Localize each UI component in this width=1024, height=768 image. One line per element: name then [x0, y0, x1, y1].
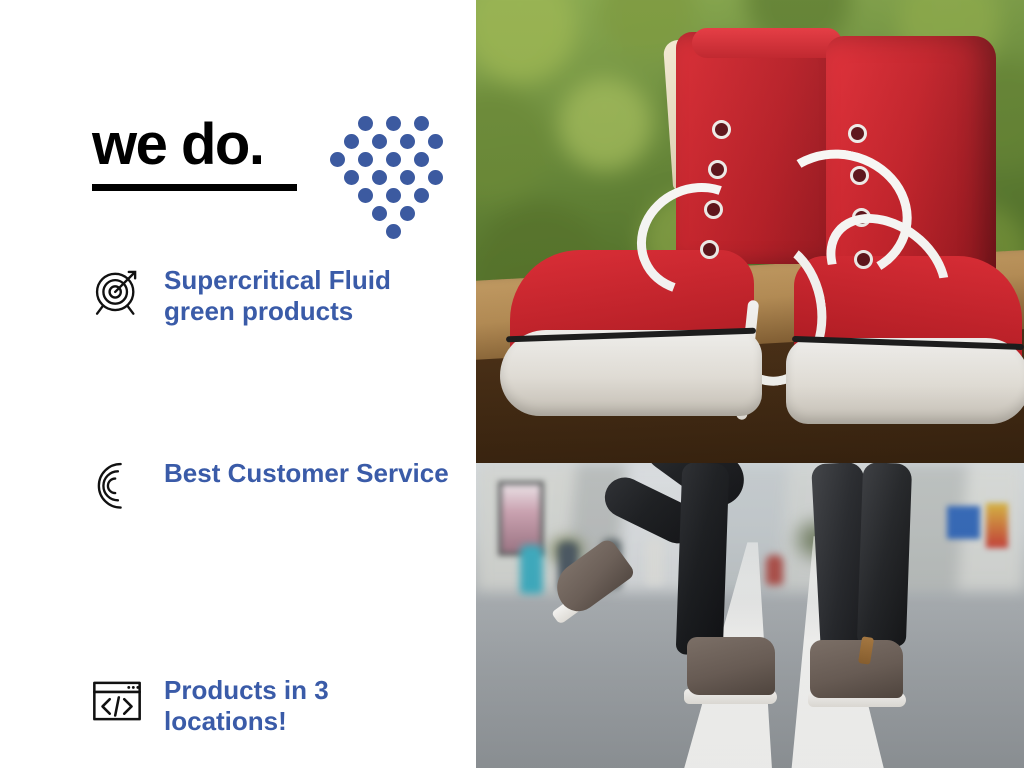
mens-sneaker: [810, 640, 903, 698]
standing-leg-leggings: [675, 463, 729, 656]
photo-column: [476, 0, 1024, 768]
left-content-panel: we do.: [0, 0, 476, 768]
left-shoe-sole: [500, 330, 762, 416]
right-shoe-sole: [786, 338, 1024, 424]
feature-item-supercritical-fluid[interactable]: Supercritical Fluid green products: [88, 262, 468, 327]
pedestrian: [766, 555, 782, 586]
code-window-icon: [88, 672, 146, 730]
shoe-eyelet: [848, 124, 867, 143]
feature-list: Supercritical Fluid green products Best …: [0, 0, 476, 768]
feature-label-supercritical-fluid: Supercritical Fluid green products: [164, 262, 454, 327]
street-flag: [986, 503, 1008, 549]
feature-item-customer-service[interactable]: Best Customer Service: [88, 455, 468, 513]
back-shoe-collar: [692, 28, 842, 58]
shoe-eyelet: [712, 120, 731, 139]
street-crosswalk-legs-photo: [476, 463, 1024, 768]
target-arrow-icon: [88, 262, 146, 320]
shoe-eyelet: [708, 160, 727, 179]
feature-label-locations: Products in 3 locations!: [164, 672, 454, 737]
signal-waves-icon: [88, 455, 146, 513]
standing-sneaker: [687, 637, 775, 695]
pedestrian: [520, 545, 543, 594]
pedestrian: [646, 539, 664, 585]
feature-item-locations[interactable]: Products in 3 locations!: [88, 672, 468, 737]
feature-label-customer-service: Best Customer Service: [164, 455, 449, 489]
mens-right-leg-jeans: [856, 463, 912, 647]
street-sign: [947, 506, 980, 540]
slide-canvas: we do.: [0, 0, 1024, 768]
red-high-top-sneakers-photo: [476, 0, 1024, 463]
